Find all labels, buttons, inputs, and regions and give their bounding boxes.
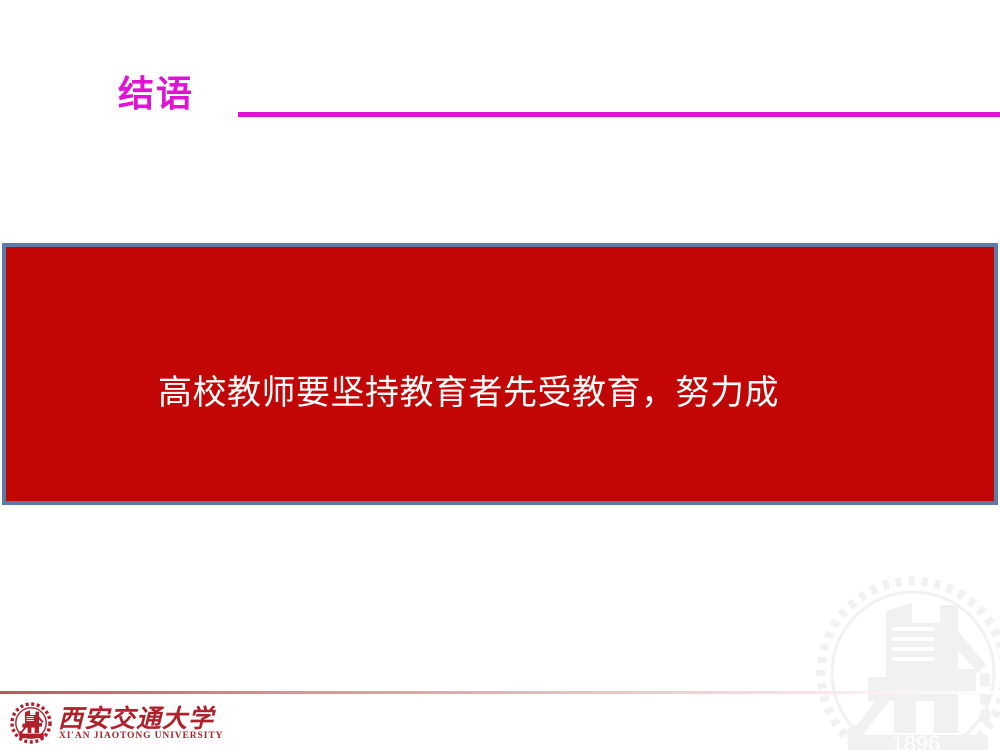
- university-name-cn: 西安交通大学: [58, 699, 214, 735]
- watermark-year-label: 1896: [892, 731, 941, 750]
- presentation-slide: 结语 高校教师要坚持教育者先受教育，努力成 为先进思想文化的传播者、党执政的坚定…: [0, 0, 1000, 750]
- footer-divider-rule: [0, 691, 1000, 694]
- content-panel: 高校教师要坚持教育者先受教育，努力成 为先进思想文化的传播者、党执政的坚定 支持…: [2, 243, 998, 505]
- panel-text-line: 高校教师要坚持教育者先受教育，努力成: [152, 369, 872, 417]
- university-logo: 西安交通大学 XI'AN JIAOTONG UNIVERSITY: [10, 700, 200, 748]
- xjtu-gear-logo-icon: [10, 702, 52, 744]
- title-underline-rule: [238, 112, 1000, 117]
- slide-title-row: 结语: [0, 72, 1000, 128]
- panel-body-text: 高校教师要坚持教育者先受教育，努力成 为先进思想文化的传播者、党执政的坚定 支持…: [152, 273, 872, 750]
- page-title: 结语: [118, 72, 194, 118]
- university-name-en: XI'AN JIAOTONG UNIVERSITY: [59, 731, 223, 741]
- panel-text-line: 为先进思想文化的传播者、党执政的坚定: [152, 513, 872, 561]
- panel-text-line: 支持者，更好担起学生健康成长指导者和: [152, 657, 872, 705]
- university-logo-wordmark: 西安交通大学 XI'AN JIAOTONG UNIVERSITY: [58, 700, 198, 746]
